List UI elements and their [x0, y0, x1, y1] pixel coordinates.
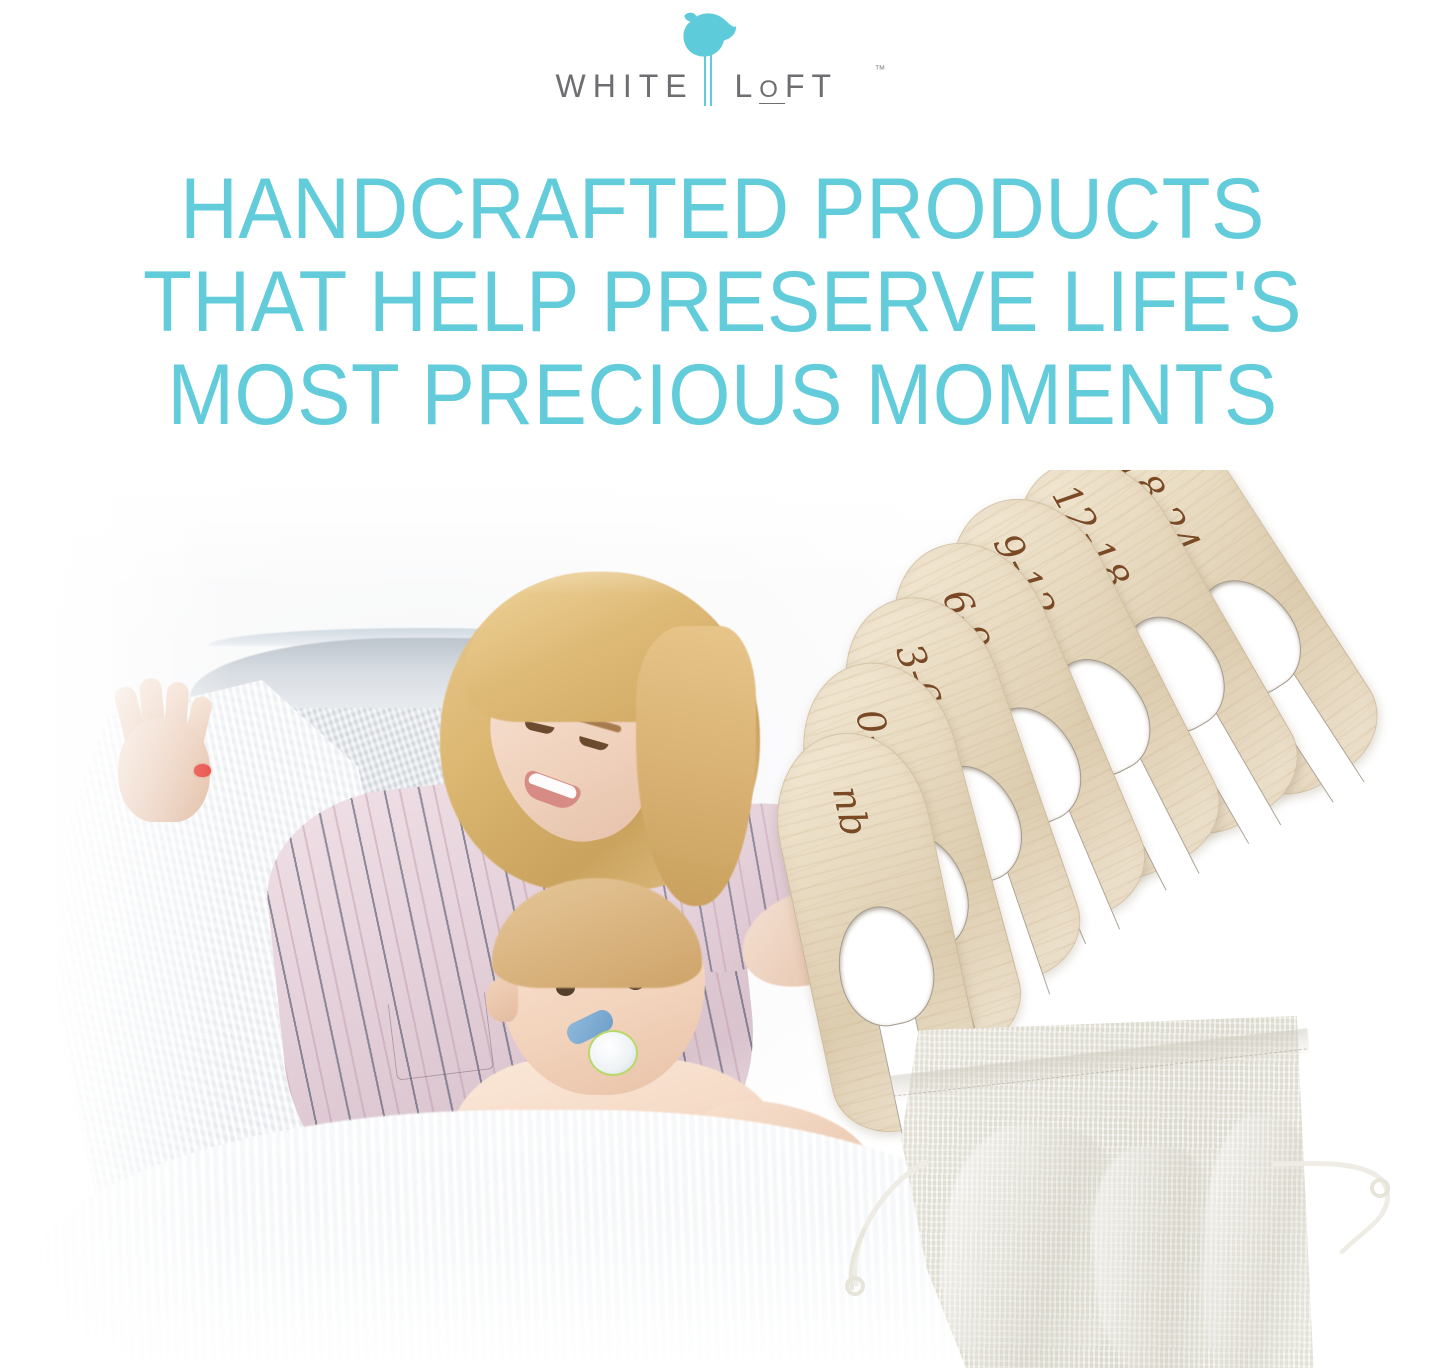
red-nail-polish — [194, 764, 211, 777]
logo-loft-ft: FT — [785, 68, 838, 104]
brand-logo: WHITE LOFT ™ — [0, 6, 1445, 118]
logo-loft-o: O — [759, 78, 785, 104]
divider-label: nb — [814, 734, 888, 890]
mother-hand — [102, 676, 234, 824]
marketing-banner: WHITE LOFT ™ HANDCRAFTED PRODUCTS THAT H… — [0, 0, 1445, 1368]
baby-ear — [486, 978, 518, 1022]
headline-line-1: HANDCRAFTED PRODUCTS — [51, 163, 1395, 256]
mother-head — [440, 572, 770, 902]
headline-line-3: MOST PRECIOUS MOMENTS — [51, 349, 1395, 442]
headline-line-2: THAT HELP PRESERVE LIFE'S — [51, 256, 1395, 349]
drawstring-cord-right — [1270, 1158, 1400, 1278]
logo-text-white: WHITE — [556, 66, 694, 106]
drawstring-cord-left — [830, 1158, 940, 1298]
logo-trademark: ™ — [875, 64, 886, 76]
baby-hair — [492, 878, 702, 988]
brand-logo-inner: WHITE LOFT ™ — [553, 6, 893, 118]
logo-loft-l: L — [735, 68, 760, 104]
product-lifestyle-photo: 18-24 12-18 9-12 6-9 3-6 — [0, 470, 1445, 1368]
logo-text-loft: LOFT — [735, 66, 839, 106]
canvas-drawstring-bag — [870, 998, 1340, 1368]
headline: HANDCRAFTED PRODUCTS THAT HELP PRESERVE … — [0, 163, 1445, 442]
bird-legs-icon — [703, 54, 714, 106]
closet-divider-stack: 18-24 12-18 9-12 6-9 3-6 — [790, 470, 1310, 1070]
pacifier-icon — [588, 1030, 638, 1076]
